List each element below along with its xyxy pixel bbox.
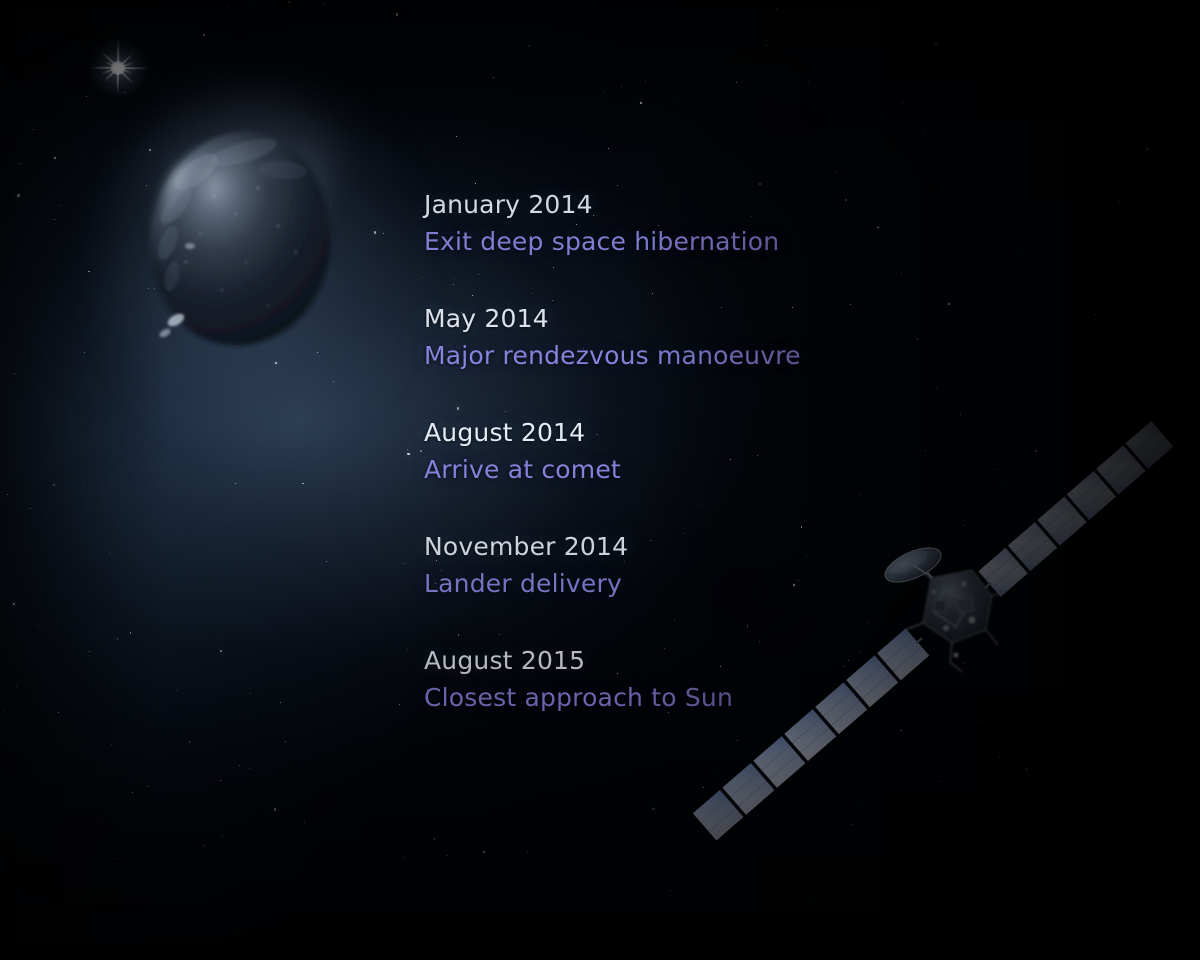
solar-array-upper (974, 421, 1174, 601)
solar-array-lower (693, 624, 934, 840)
rosetta-spacecraft (0, 0, 1200, 960)
space-scene: January 2014 Exit deep space hibernation… (0, 0, 1200, 960)
